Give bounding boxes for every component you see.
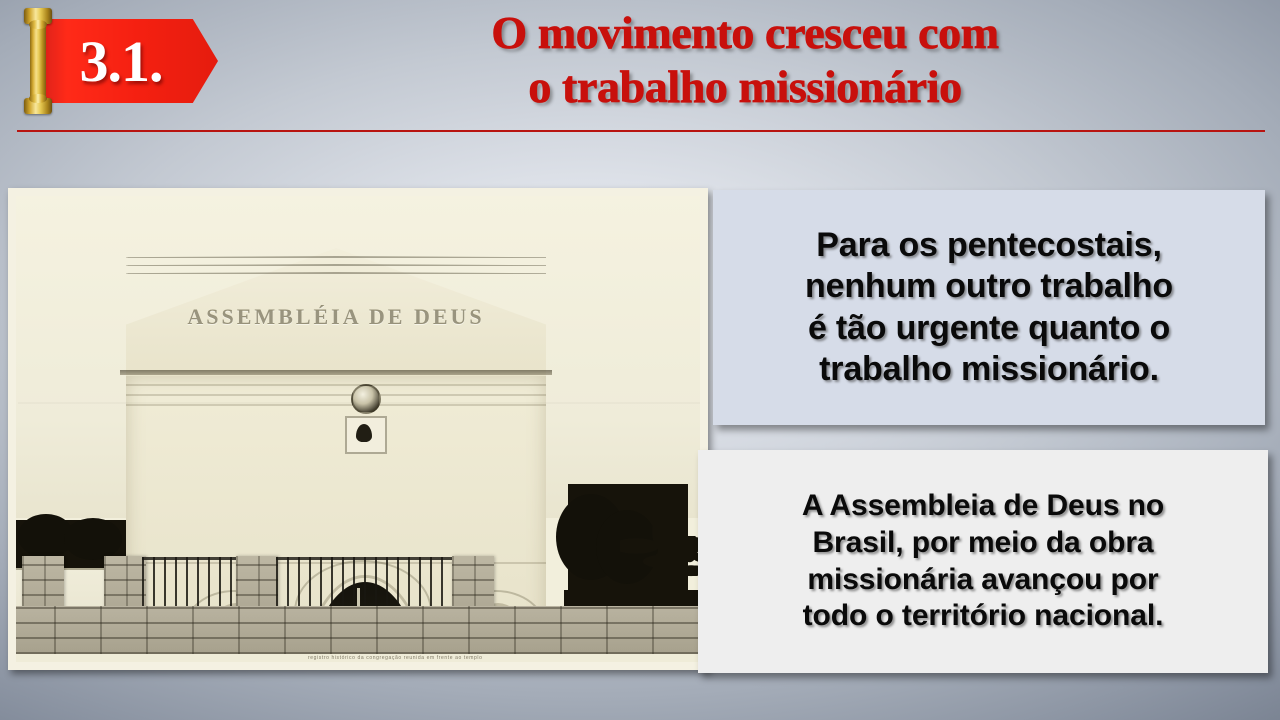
facade-line-1 [126, 384, 546, 386]
photo-content: ASSEMBLÉIA DE DEUS [8, 188, 708, 670]
iron-railing-center [276, 557, 456, 610]
facade-line-2 [126, 394, 546, 396]
note-text: A Assembleia de Deus no Brasil, por meio… [802, 488, 1164, 634]
page-title: O movimento cresceu com o trabalho missi… [225, 6, 1265, 115]
facade-clock-icon [351, 384, 381, 414]
scroll-knob-bottom-icon [29, 94, 47, 103]
brick-wall-base [8, 606, 708, 654]
photo-caption-strip: registro histórico da congregação reunid… [8, 654, 708, 670]
tree-canopy-left-b [64, 518, 122, 560]
facade-inscription: ASSEMBLÉIA DE DEUS [126, 304, 546, 330]
iron-railing-left [142, 557, 238, 610]
header-divider [17, 130, 1265, 132]
quote-textbox: Para os pentecostais, nenhum outro traba… [713, 190, 1265, 425]
bell-icon [356, 424, 372, 442]
scroll-knob-top-icon [29, 20, 47, 29]
section-number-label: 3.1. [46, 19, 196, 103]
historic-photo: ASSEMBLÉIA DE DEUS [8, 188, 708, 670]
note-textbox: A Assembleia de Deus no Brasil, por meio… [698, 450, 1268, 673]
section-number-banner: 3.1. [16, 8, 216, 114]
quote-text: Para os pentecostais, nenhum outro traba… [805, 225, 1173, 391]
presentation-slide: 3.1. O movimento cresceu com o trabalho … [0, 0, 1280, 720]
facade-line-3 [126, 404, 546, 406]
church-cornice [120, 370, 552, 375]
photo-caption-text: registro histórico da congregação reunid… [308, 655, 482, 661]
